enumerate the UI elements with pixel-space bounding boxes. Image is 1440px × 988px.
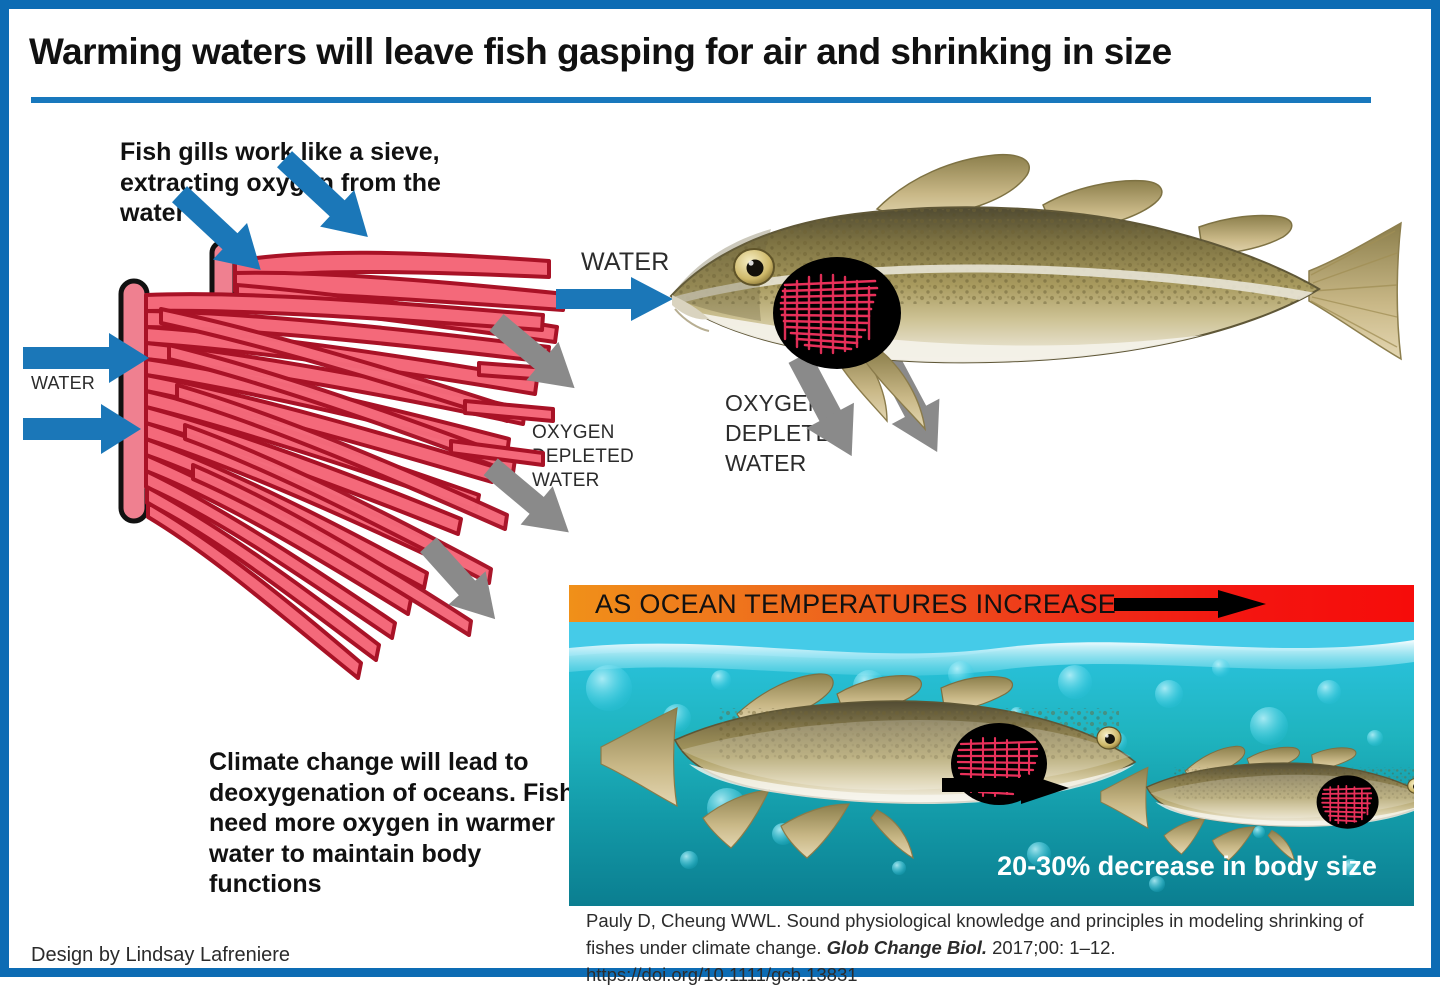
cod-fish-illustration [669, 155, 1401, 429]
label-oxygen-depleted-water-fish: OXYGENDEPLETEDWATER [725, 389, 848, 479]
cod-small-in-water [1101, 746, 1414, 860]
citation-line-1b: 2017;00: 1–12. [987, 937, 1116, 958]
arrow-diagonal-gray-3 [410, 528, 514, 636]
callout-gills-text: Fish gills work like a sieve, extracting… [120, 137, 510, 229]
label-oxygen-depleted-water-gill: OXYGENDEPLETEDWATER [532, 421, 634, 493]
arrow-right-blue-to-fish [556, 277, 673, 321]
design-credit: Design by Lindsay Lafreniere [31, 944, 290, 967]
citation-journal: Glob Change Biol. [827, 937, 987, 958]
decrease-body-size-text: 20-30% decrease in body size [977, 850, 1397, 882]
label-water-mid: WATER [581, 247, 670, 279]
arrow-diagonal-gray-fish-2 [861, 340, 961, 464]
page-title: Warming waters will leave fish gasping f… [29, 31, 1409, 73]
label-water-left: WATER [31, 372, 95, 395]
arrow-diagonal-gray-1 [480, 303, 590, 407]
temperature-gradient-bar: AS OCEAN TEMPERATURES INCREASE [569, 585, 1414, 622]
temperature-banner-text: AS OCEAN TEMPERATURES INCREASE [595, 589, 1116, 620]
ocean-warming-panel: AS OCEAN TEMPERATURES INCREASE [569, 585, 1414, 906]
arrow-right-blue-2 [23, 404, 141, 454]
citation-block: Pauly D, Cheung WWL. Sound physiological… [586, 908, 1406, 988]
infographic-page: Warming waters will leave fish gasping f… [0, 0, 1440, 977]
gill-cutaway-circle [773, 257, 901, 369]
title-underline-rule [31, 97, 1371, 103]
cod-large-in-water [601, 674, 1135, 858]
underwater-scene: 20-30% decrease in body size [569, 622, 1414, 906]
gill-diagram [121, 242, 565, 678]
citation-doi-link[interactable]: https://doi.org/10.1111/gcb.13831 [586, 964, 858, 985]
gill-cutaway-circle-small [1317, 775, 1379, 828]
callout-climate-text: Climate change will lead to deoxygenatio… [209, 747, 579, 900]
arrow-right-black-temperature [1114, 590, 1274, 618]
